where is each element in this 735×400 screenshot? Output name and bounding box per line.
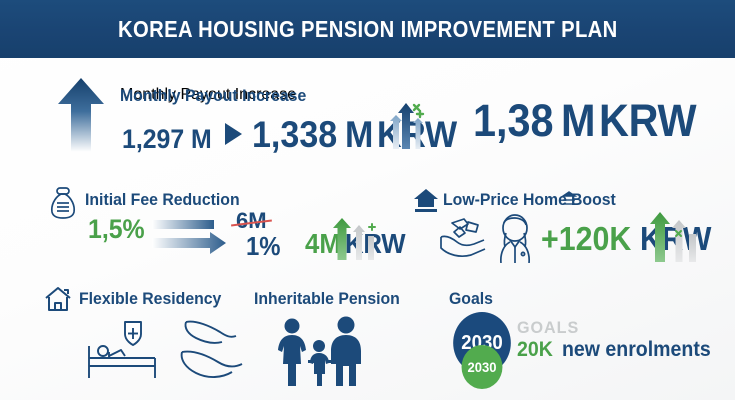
triangle-right-icon	[225, 123, 242, 150]
initial-fee-struck-group: 6M	[236, 210, 267, 233]
monthly-payout-to-unit: M	[345, 116, 373, 153]
infographic-root: KOREA HOUSING PENSION IMPROVEMENT PLAN M…	[0, 0, 735, 400]
low-price-home-title-part2: Boost	[571, 190, 616, 210]
headline-unit-m: M	[561, 98, 596, 143]
house-icon	[413, 187, 439, 218]
green-cross-icon	[414, 105, 419, 110]
low-price-home-amount: +120K	[541, 222, 631, 255]
green-plus-icon	[417, 111, 423, 117]
headline-currency: KRW	[599, 98, 696, 143]
flexible-residency-title: Flexible Residency	[79, 289, 221, 309]
green-bar-chart-arrow-icon	[331, 216, 381, 265]
hospital-bed-shield-icon	[85, 320, 161, 387]
goals-ghost-label: GOALS	[517, 318, 579, 338]
goals-title: Goals	[449, 289, 493, 309]
green-bar-chart-arrow-icon-2	[648, 210, 706, 267]
triple-up-arrow-icon	[383, 103, 427, 154]
money-bag-icon	[48, 186, 78, 225]
inheritable-pension-title: Inheritable Pension	[254, 289, 400, 309]
monthly-payout-from: 1,297	[122, 126, 184, 153]
home-outline-icon	[43, 285, 73, 318]
header-bar: KOREA HOUSING PENSION IMPROVEMENT PLAN	[0, 0, 735, 58]
goals-highlight: 20K	[517, 338, 553, 362]
caring-hands-icon	[180, 318, 250, 387]
woman-figure-icon	[492, 213, 538, 268]
headline-value: 1,38	[473, 98, 554, 143]
low-price-home-title-part1: Low-Price Home	[443, 190, 567, 210]
goals-description: new enrolments	[562, 338, 711, 362]
page-title: KOREA HOUSING PENSION IMPROVEMENT PLAN	[118, 16, 618, 43]
monthly-payout-from-unit: M	[191, 126, 212, 153]
monthly-payout-title-text: Monthly Payout Increase	[120, 86, 306, 106]
family-silhouette-icon	[272, 316, 368, 391]
initial-fee-to: 1%	[246, 233, 281, 259]
big-up-arrow-icon	[58, 78, 104, 157]
goals-description-group: 20K new enrolments	[517, 338, 721, 362]
initial-fee-title: Initial Fee Reduction	[85, 190, 240, 210]
initial-fee-from: 1,5%	[88, 216, 145, 243]
headline-value-group: 1,38 M KRW	[473, 98, 705, 143]
goals-circle-green: 2030	[462, 345, 503, 389]
hand-holding-house-icon	[438, 215, 490, 268]
gradient-arrow-icon	[152, 216, 230, 265]
monthly-payout-to: 1,338	[252, 116, 337, 153]
